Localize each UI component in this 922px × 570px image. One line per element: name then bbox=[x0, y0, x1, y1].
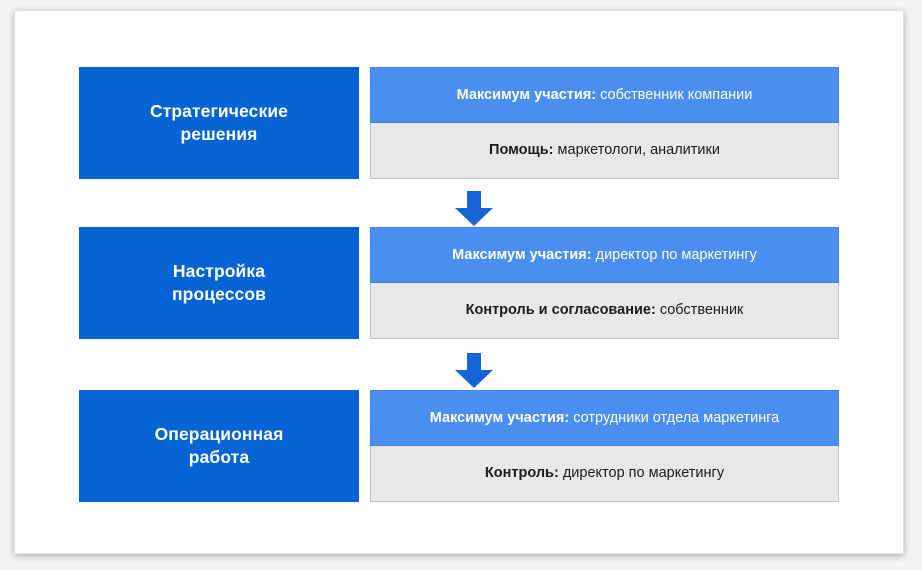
detail-value: собственник компании bbox=[600, 87, 752, 103]
detail-row-primary[interactable]: Максимум участия: директор по маркетингу bbox=[370, 227, 839, 283]
detail-stack: Максимум участия: сотрудники отдела марк… bbox=[370, 390, 839, 502]
stage-label: Операционная работа bbox=[155, 423, 284, 469]
detail-text: Контроль и согласование: собственник bbox=[466, 301, 744, 319]
detail-text: Максимум участия: собственник компании bbox=[457, 86, 753, 104]
detail-label: Максимум участия: bbox=[452, 247, 591, 263]
detail-text: Максимум участия: сотрудники отдела марк… bbox=[430, 409, 779, 427]
diagram-card: Стратегические решения Максимум участия:… bbox=[14, 10, 904, 554]
detail-row-secondary[interactable]: Контроль и согласование: собственник bbox=[370, 283, 839, 339]
down-arrow-icon bbox=[452, 353, 496, 389]
detail-label: Максимум участия: bbox=[430, 410, 569, 426]
detail-value: сотрудники отдела маркетинга bbox=[573, 410, 779, 426]
detail-value: директор по маркетингу bbox=[563, 465, 724, 481]
detail-value: собственник bbox=[660, 302, 744, 318]
responsibility-diagram: Стратегические решения Максимум участия:… bbox=[15, 11, 904, 554]
detail-label: Контроль и согласование: bbox=[466, 302, 656, 318]
stage-box-operational[interactable]: Операционная работа bbox=[79, 390, 359, 502]
detail-text: Максимум участия: директор по маркетингу bbox=[452, 246, 757, 264]
detail-row-primary[interactable]: Максимум участия: собственник компании bbox=[370, 67, 839, 123]
stage-label: Настройка процессов bbox=[172, 260, 266, 306]
stage-label: Стратегические решения bbox=[150, 100, 288, 146]
detail-stack: Максимум участия: директор по маркетингу… bbox=[370, 227, 839, 339]
detail-label: Контроль: bbox=[485, 465, 559, 481]
detail-row-secondary[interactable]: Контроль: директор по маркетингу bbox=[370, 446, 839, 502]
detail-row-secondary[interactable]: Помощь: маркетологи, аналитики bbox=[370, 123, 839, 179]
down-arrow-icon bbox=[452, 191, 496, 227]
detail-value: маркетологи, аналитики bbox=[558, 142, 720, 158]
detail-label: Максимум участия: bbox=[457, 87, 596, 103]
detail-stack: Максимум участия: собственник компании П… bbox=[370, 67, 839, 179]
detail-value: директор по маркетингу bbox=[596, 247, 757, 263]
stage-box-strategic[interactable]: Стратегические решения bbox=[79, 67, 359, 179]
detail-text: Контроль: директор по маркетингу bbox=[485, 464, 724, 482]
detail-label: Помощь: bbox=[489, 142, 553, 158]
detail-text: Помощь: маркетологи, аналитики bbox=[489, 141, 720, 159]
page-background: Стратегические решения Максимум участия:… bbox=[0, 0, 922, 570]
stage-box-process-setup[interactable]: Настройка процессов bbox=[79, 227, 359, 339]
detail-row-primary[interactable]: Максимум участия: сотрудники отдела марк… bbox=[370, 390, 839, 446]
